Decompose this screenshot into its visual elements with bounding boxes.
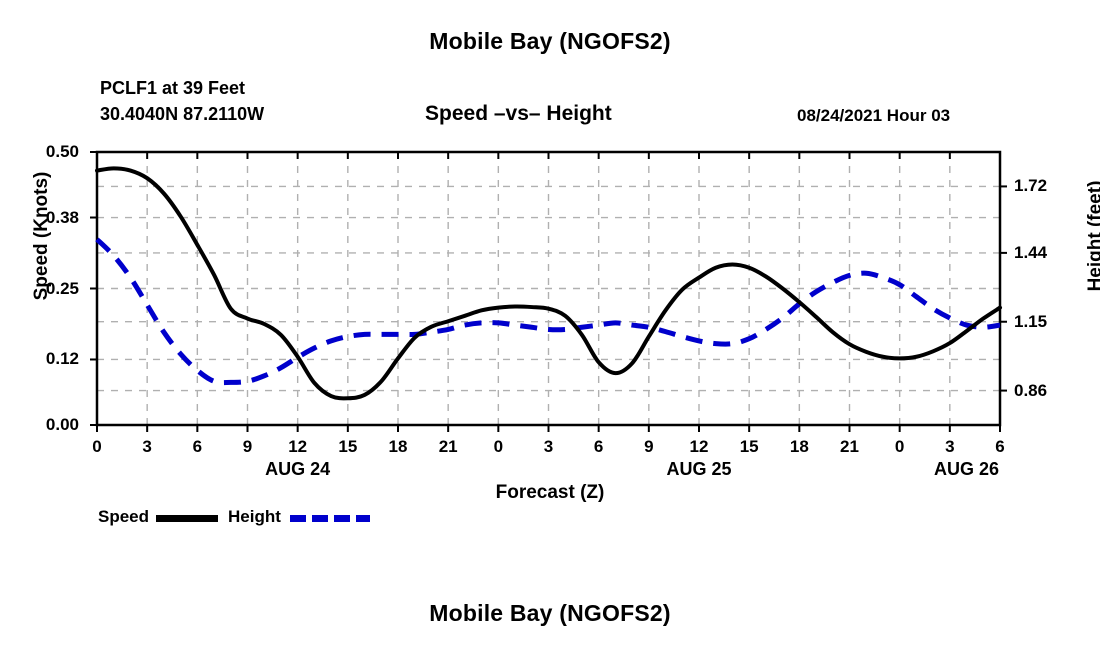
x-tick-label: 3 — [529, 437, 569, 457]
x-tick-label: 6 — [980, 437, 1020, 457]
x-tick-label: 12 — [278, 437, 318, 457]
y-tick-label-right: 1.44 — [1014, 243, 1074, 263]
x-axis-day-label: AUG 24 — [228, 459, 368, 480]
x-tick-label: 9 — [228, 437, 268, 457]
legend-label-speed: Speed — [98, 507, 149, 527]
x-tick-label: 0 — [880, 437, 920, 457]
y-tick-label-left: 0.50 — [19, 142, 79, 162]
x-tick-label: 12 — [679, 437, 719, 457]
x-tick-label: 21 — [830, 437, 870, 457]
x-tick-label: 18 — [378, 437, 418, 457]
y-tick-label-right: 0.86 — [1014, 381, 1074, 401]
chart-plot — [0, 0, 1100, 650]
y-tick-label-left: 0.12 — [19, 349, 79, 369]
x-tick-label: 18 — [779, 437, 819, 457]
x-axis-day-label: AUG 26 — [897, 459, 1037, 480]
x-tick-label: 0 — [478, 437, 518, 457]
x-tick-label: 6 — [579, 437, 619, 457]
legend-swatch-speed — [156, 515, 218, 522]
legend-label-height: Height — [228, 507, 281, 527]
y-tick-label-right: 1.72 — [1014, 176, 1074, 196]
y-tick-label-left: 0.25 — [19, 279, 79, 299]
x-tick-label: 15 — [328, 437, 368, 457]
x-tick-label: 0 — [77, 437, 117, 457]
x-tick-label: 9 — [629, 437, 669, 457]
x-tick-label: 6 — [177, 437, 217, 457]
x-axis-day-label: AUG 25 — [629, 459, 769, 480]
x-tick-label: 3 — [127, 437, 167, 457]
y-tick-label-right: 1.15 — [1014, 312, 1074, 332]
x-tick-label: 3 — [930, 437, 970, 457]
x-tick-label: 21 — [428, 437, 468, 457]
x-tick-label: 15 — [729, 437, 769, 457]
y-tick-label-left: 0.00 — [19, 415, 79, 435]
legend-swatch-height — [290, 515, 370, 522]
y-tick-label-left: 0.38 — [19, 208, 79, 228]
